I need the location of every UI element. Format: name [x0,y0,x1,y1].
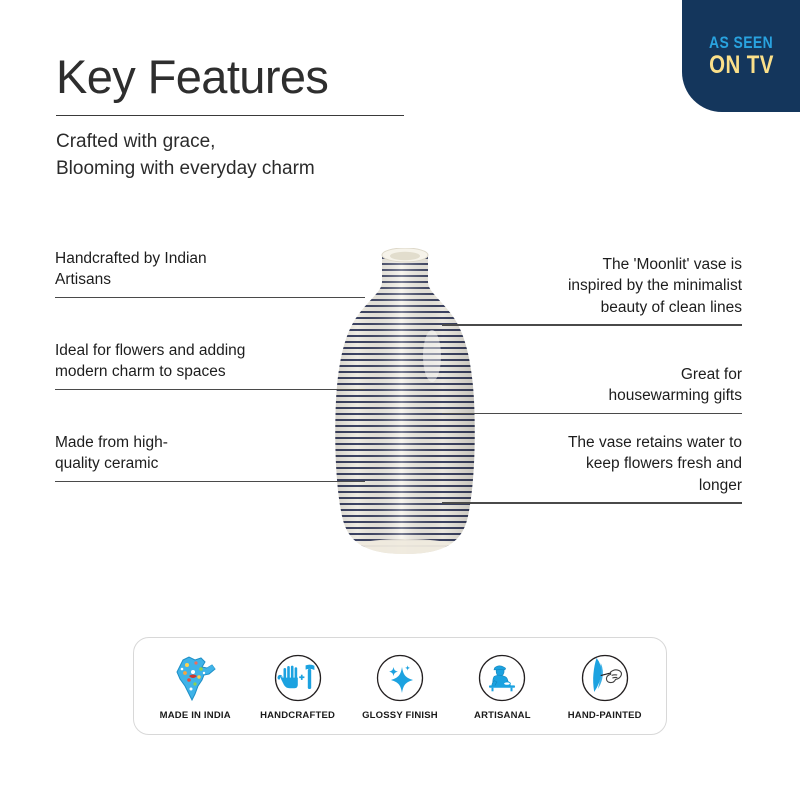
feature-text: Ideal for flowers and adding modern char… [55,340,365,389]
feature-item: The 'Moonlit' vase is inspired by the mi… [442,254,742,326]
feature-connector-line [55,481,365,482]
feature-text: The 'Moonlit' vase is inspired by the mi… [442,254,742,324]
feature-text: Made from high- quality ceramic [55,432,365,481]
badge-hand-painted: HAND-PAINTED [555,651,655,721]
sparkle-icon [375,651,425,705]
badge-label: ARTISANAL [474,710,531,721]
badge-made-in-india: MADE IN INDIA [145,651,245,721]
india-map-icon [171,651,219,705]
feature-item: The vase retains water to keep flowers f… [442,432,742,504]
as-seen-on-tv-badge: AS SEEN ON TV [682,0,800,112]
feature-item: Handcrafted by Indian Artisans [55,248,365,298]
badge-label: HAND-PAINTED [568,710,642,721]
feature-connector-line [55,389,365,390]
trust-badge-strip: MADE IN INDIA [133,637,667,735]
feature-text: Handcrafted by Indian Artisans [55,248,365,297]
feature-item: Ideal for flowers and adding modern char… [55,340,365,390]
page-title: Key Features [56,52,476,101]
feature-connector-line [442,413,742,414]
badge-handcrafted: HANDCRAFTED [248,651,348,721]
badge-artisanal: ARTISANAL [452,651,552,721]
feature-connector-line [442,502,742,503]
badge-label: HANDCRAFTED [260,710,335,721]
header: Key Features Crafted with grace, Bloomin… [56,52,476,183]
feature-connector-line [55,297,365,298]
feature-item: Great for housewarming gifts [442,364,742,414]
page-subtitle: Crafted with grace, Blooming with everyd… [56,129,476,183]
feature-text: Great for housewarming gifts [442,364,742,413]
as-seen-on-tv-line2: ON TV [709,53,774,79]
craftsman-icon [477,651,527,705]
title-divider [56,115,404,116]
feature-connector-line [442,324,742,325]
feature-text: The vase retains water to keep flowers f… [442,432,742,502]
brush-hand-icon [580,651,630,705]
badge-glossy-finish: GLOSSY FINISH [350,651,450,721]
badge-label: GLOSSY FINISH [362,710,438,721]
badge-label: MADE IN INDIA [160,710,231,721]
as-seen-on-tv-line1: AS SEEN [709,34,773,51]
hand-hammer-icon [273,651,323,705]
feature-item: Made from high- quality ceramic [55,432,365,482]
